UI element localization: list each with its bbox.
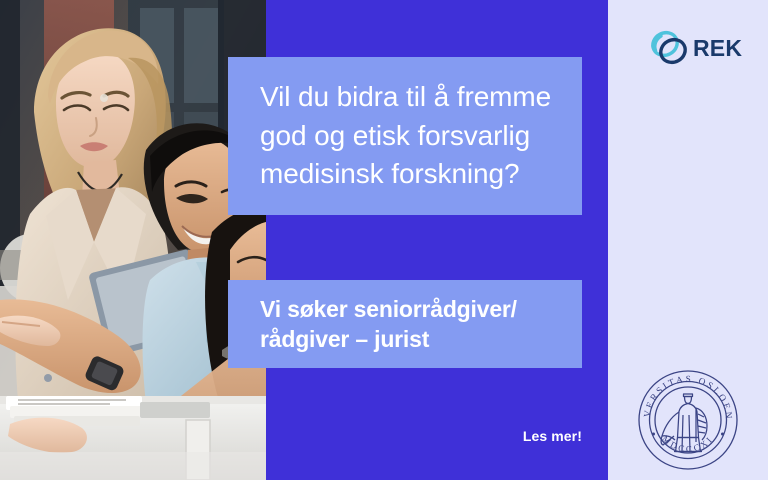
rek-logo[interactable]: REK	[648, 24, 740, 72]
svg-text:UNIVERSITAS OSLOENSIS: UNIVERSITAS OSLOENSIS	[636, 368, 733, 421]
job-title-box: Vi søker seniorrådgiver/ rådgiver – juri…	[228, 280, 582, 368]
headline-text: Vil du bidra til å fremme god og etisk f…	[228, 78, 582, 194]
rek-wordmark: REK	[693, 37, 742, 60]
team-photo	[0, 0, 266, 480]
headline-box: Vil du bidra til å fremme god og etisk f…	[228, 57, 582, 215]
read-more-link[interactable]: Les mer!	[430, 428, 582, 444]
rek-interlocking-rings-icon	[648, 26, 690, 70]
seal-top-text: UNIVERSITAS OSLOENSIS	[636, 368, 733, 421]
job-title-text: Vi søker seniorrådgiver/ rådgiver – juri…	[228, 294, 582, 355]
uio-seal: UNIVERSITAS OSLOENSIS MDCCCXI	[636, 368, 740, 472]
recruitment-banner: Vil du bidra til å fremme god og etisk f…	[0, 0, 768, 480]
university-of-oslo-seal-icon: UNIVERSITAS OSLOENSIS MDCCCXI	[636, 368, 740, 472]
